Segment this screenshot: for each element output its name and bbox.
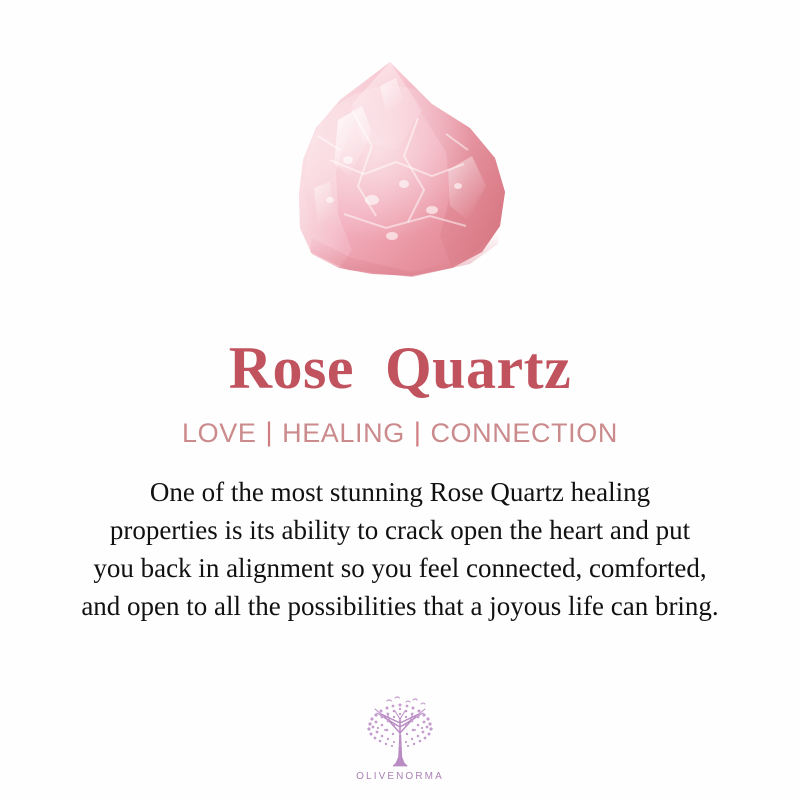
description-line-3: you back in alignment so you feel connec… bbox=[30, 549, 770, 587]
bird-icons bbox=[387, 697, 425, 704]
hero-image-container bbox=[0, 0, 800, 300]
keyword-separator-1: | bbox=[265, 419, 273, 446]
description-line-2: properties is its ability to crack open … bbox=[30, 511, 770, 549]
page-title: Rose Quartz bbox=[229, 338, 572, 398]
keyword-tagline: LOVE | HEALING | CONNECTION bbox=[182, 420, 618, 447]
keyword-healing: HEALING bbox=[282, 420, 405, 447]
rose-quartz-info-card: Rose Quartz LOVE | HEALING | CONNECTION … bbox=[0, 0, 800, 800]
keyword-love: LOVE bbox=[182, 420, 256, 447]
description-text: One of the most stunning Rose Quartz hea… bbox=[30, 473, 770, 625]
keyword-connection: CONNECTION bbox=[430, 420, 618, 447]
brand-logo: OLIVENORMA bbox=[0, 695, 800, 782]
description-line-1: One of the most stunning Rose Quartz hea… bbox=[30, 473, 770, 511]
keyword-separator-2: | bbox=[414, 419, 422, 446]
rose-quartz-crystal-image bbox=[0, 0, 800, 300]
brand-wordmark: OLIVENORMA bbox=[356, 771, 444, 782]
tree-of-life-icon bbox=[357, 695, 443, 769]
description-line-4: and open to all the possibilities that a… bbox=[30, 587, 770, 625]
